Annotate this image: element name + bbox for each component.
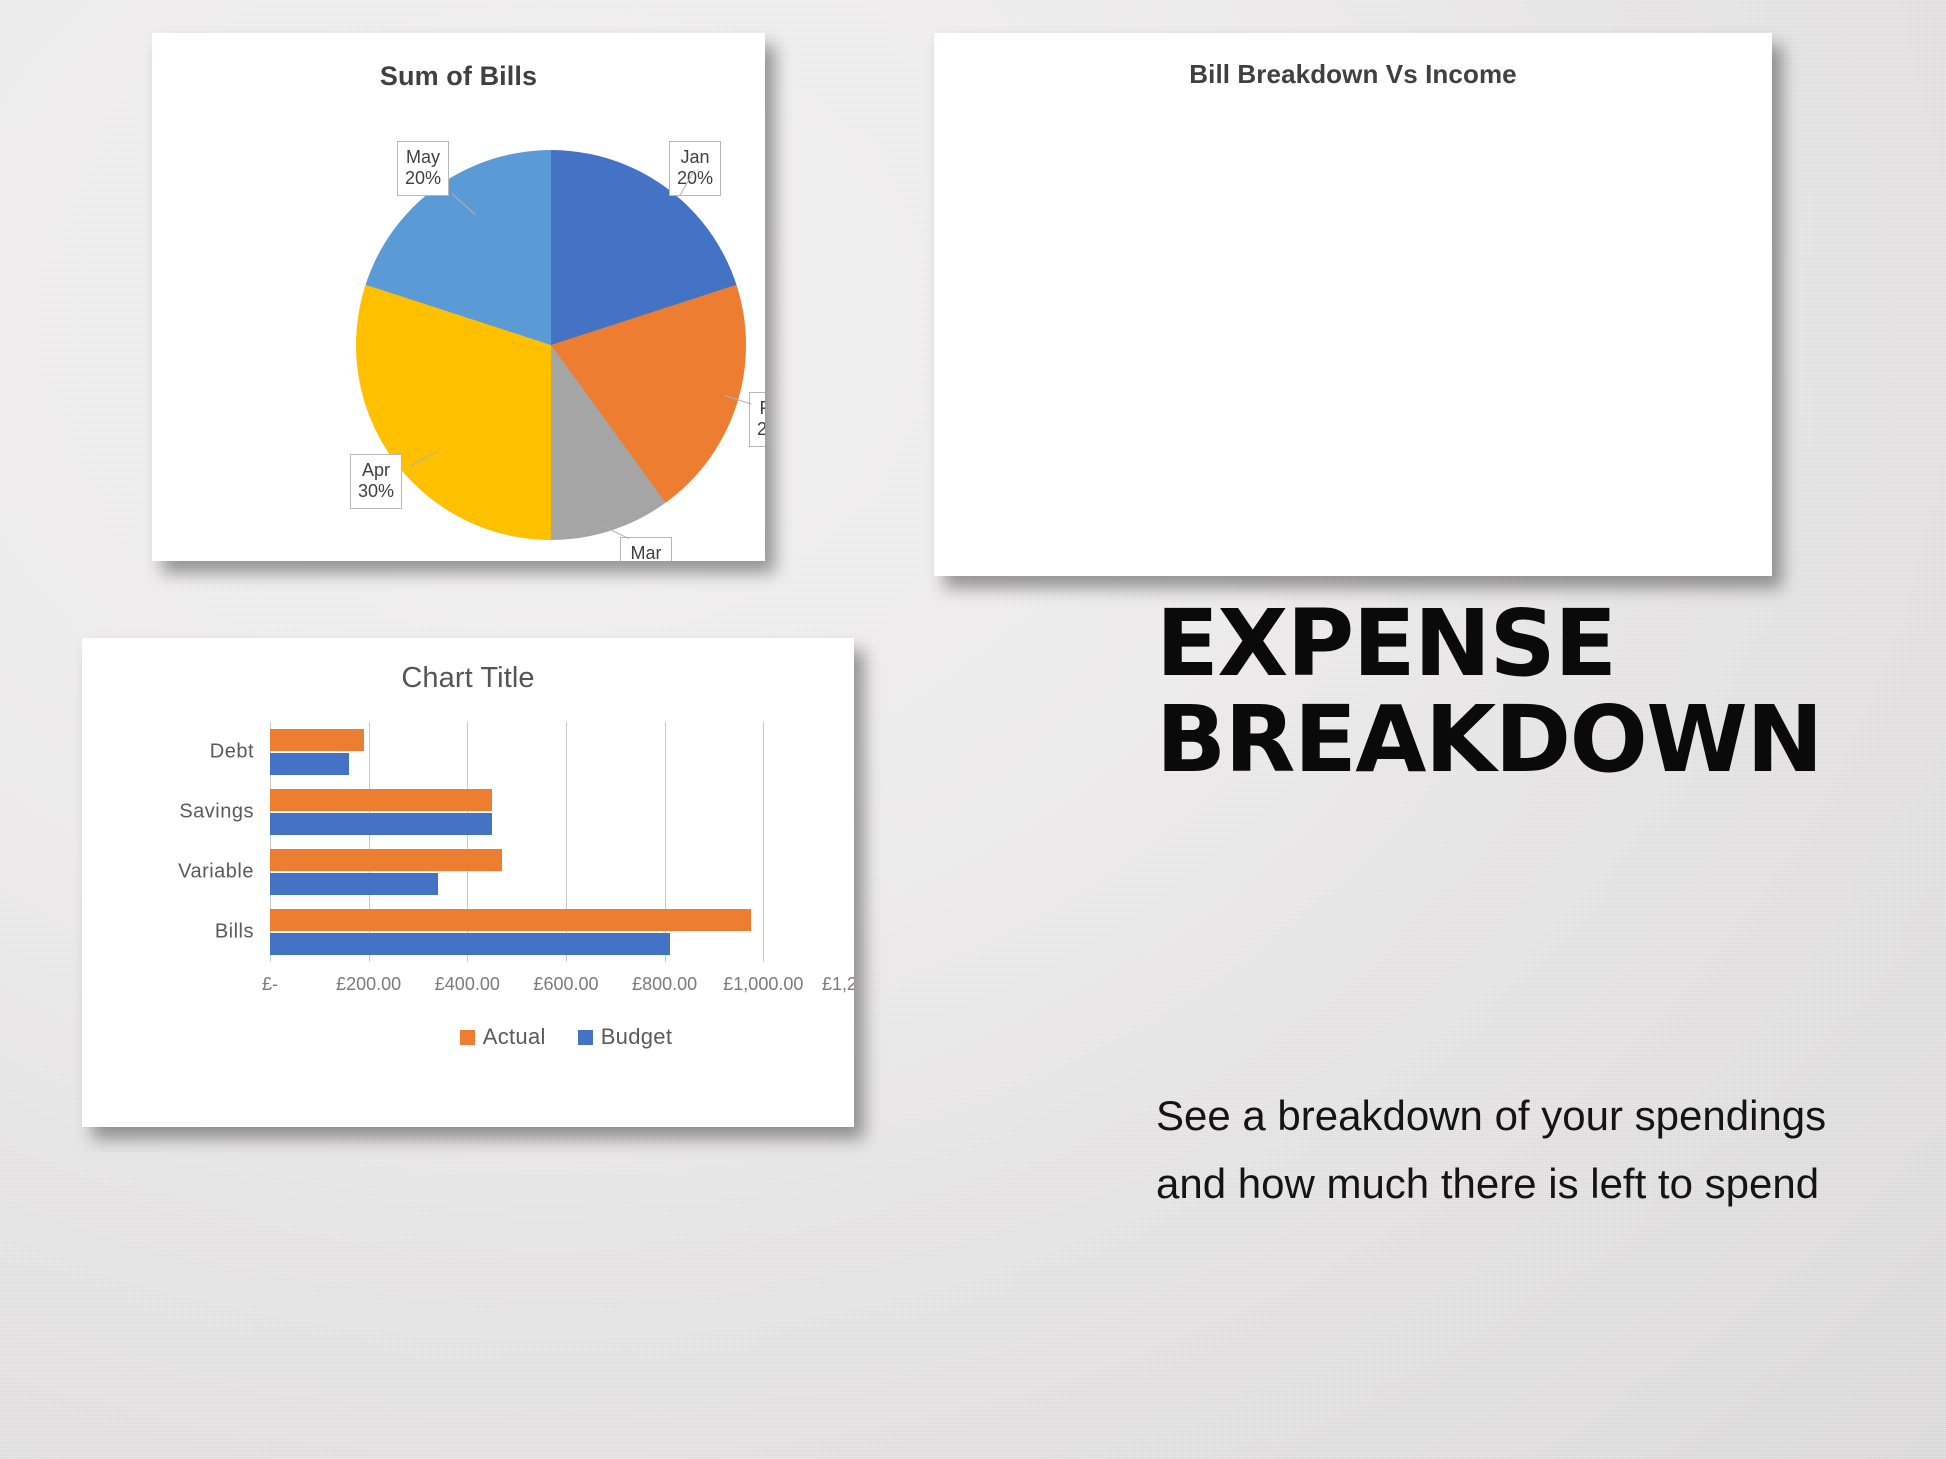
bar-budget-variable[interactable] bbox=[270, 873, 438, 895]
bar-budget-savings[interactable] bbox=[270, 813, 492, 835]
bar-budget-bills[interactable] bbox=[270, 933, 670, 955]
data-label-feb: Feb 20% bbox=[749, 392, 765, 447]
bar-group-debt[interactable]: Debt bbox=[270, 722, 854, 782]
legend-bar-chart[interactable]: Actual Budget bbox=[270, 1024, 854, 1050]
bar-chart[interactable]: DebtSavingsVariableBills Actual Budget £… bbox=[82, 638, 854, 1127]
bar-budget-debt[interactable] bbox=[270, 753, 349, 775]
x-axis-tick-label: £1,000.00 bbox=[723, 974, 803, 995]
legend-item-budget[interactable]: Budget bbox=[578, 1024, 673, 1050]
data-label-jan: Jan 20% bbox=[669, 141, 721, 196]
y-axis-category-label: Variable bbox=[178, 861, 254, 884]
x-axis-tick-label: £400.00 bbox=[435, 974, 500, 995]
chart-card-chart-title[interactable]: Chart Title DebtSavingsVariableBills Act… bbox=[82, 638, 854, 1127]
bar-group-variable[interactable]: Variable bbox=[270, 842, 854, 902]
x-axis-tick-label: £800.00 bbox=[632, 974, 697, 995]
y-axis-category-label: Debt bbox=[210, 741, 254, 764]
chart-card-bill-breakdown-vs-income[interactable]: Bill Breakdown Vs Income Debt 14% Saving… bbox=[934, 33, 1772, 576]
x-axis-tick-label: £1,200.00 bbox=[822, 974, 854, 995]
legend-swatch-icon-budget bbox=[578, 1030, 593, 1045]
bar-actual-bills[interactable] bbox=[270, 909, 751, 931]
headline-line-2: BREAKDOWN bbox=[1156, 692, 1916, 788]
chart-title-sum-of-bills: Sum of Bills bbox=[152, 61, 765, 92]
pie-chart-sum-of-bills[interactable] bbox=[356, 150, 746, 540]
legend-item-actual[interactable]: Actual bbox=[460, 1024, 546, 1050]
bar-actual-savings[interactable] bbox=[270, 789, 492, 811]
data-label-apr: Apr 30% bbox=[350, 454, 402, 509]
bar-group-bills[interactable]: Bills bbox=[270, 902, 854, 962]
plot-area: DebtSavingsVariableBills bbox=[270, 722, 854, 962]
legend-swatch-icon-actual bbox=[460, 1030, 475, 1045]
page-title: EXPENSE BREAKDOWN bbox=[1156, 596, 1916, 787]
bar-actual-variable[interactable] bbox=[270, 849, 502, 871]
bar-group-savings[interactable]: Savings bbox=[270, 782, 854, 842]
headline-line-1: EXPENSE bbox=[1156, 596, 1916, 692]
x-axis-tick-label: £200.00 bbox=[336, 974, 401, 995]
y-axis-category-label: Bills bbox=[215, 921, 254, 944]
subtitle-text: See a breakdown of your spendings and ho… bbox=[1156, 1082, 1876, 1218]
data-label-mar: Mar 10% bbox=[620, 537, 672, 561]
x-axis-tick-label: £- bbox=[262, 974, 278, 995]
pie-slices bbox=[356, 150, 746, 540]
chart-title-bill-breakdown-vs-income: Bill Breakdown Vs Income bbox=[934, 59, 1772, 90]
y-axis-category-label: Savings bbox=[179, 801, 254, 824]
chart-card-sum-of-bills[interactable]: Sum of Bills May 20% Jan 20% Feb 20% Mar… bbox=[152, 33, 765, 561]
data-label-may: May 20% bbox=[397, 141, 449, 196]
bar-actual-debt[interactable] bbox=[270, 729, 364, 751]
x-axis-tick-label: £600.00 bbox=[533, 974, 598, 995]
